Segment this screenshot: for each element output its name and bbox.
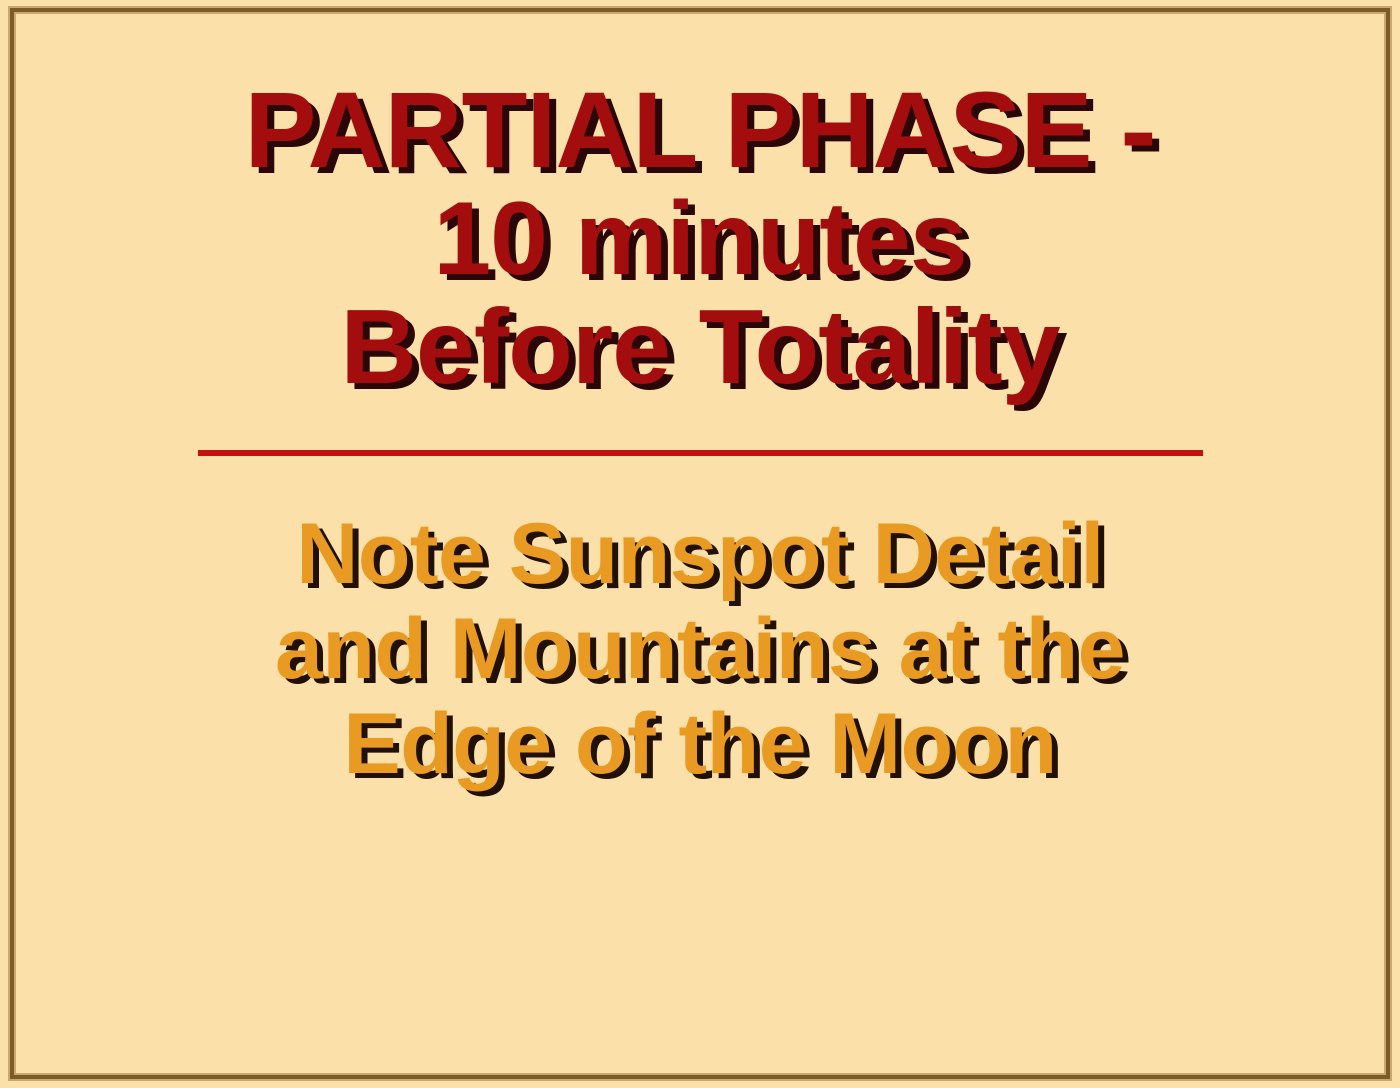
slide-content: PARTIAL PHASE - 10 minutes Before Totali… [22, 20, 1378, 1068]
divider-container [22, 450, 1378, 456]
subtitle-line-3: Edge of the Moon [22, 700, 1378, 789]
subtitle-line-1: Note Sunspot Detail [22, 510, 1378, 599]
title-line-2: 10 minutes [22, 189, 1378, 290]
slide-title: PARTIAL PHASE - 10 minutes Before Totali… [22, 78, 1378, 398]
slide-subtitle: Note Sunspot Detail and Mountains at the… [22, 510, 1378, 788]
subtitle-line-2: and Mountains at the [22, 605, 1378, 694]
horizontal-divider [198, 450, 1203, 456]
title-line-3: Before Totality [22, 296, 1378, 399]
presentation-slide: PARTIAL PHASE - 10 minutes Before Totali… [0, 0, 1400, 1088]
title-line-1: PARTIAL PHASE - [22, 78, 1378, 183]
